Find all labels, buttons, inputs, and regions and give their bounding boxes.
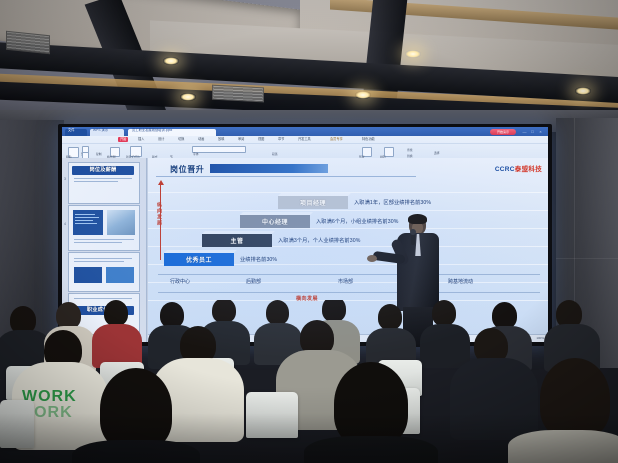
ladder-step-4-label: 项目经理 (300, 198, 326, 207)
ceiling-downlight (180, 93, 196, 101)
thumbnail-number: 3 (64, 177, 66, 181)
ladder-step-2-label: 主管 (230, 236, 243, 245)
ribbon-tab-9[interactable]: 开发工具 (298, 137, 311, 142)
ribbon-tab-row: 开始 插入 设计 切换 动画 放映 审阅 视图 章节 开发工具 会员专享 特色功… (62, 136, 548, 144)
thumb-blue-block (106, 267, 134, 283)
ribbon: 开始 插入 设计 切换 动画 放映 审阅 视图 章节 开发工具 会员专享 特色功… (62, 136, 548, 159)
department-divider (158, 292, 540, 293)
ribbon-tab-6[interactable]: 审阅 (238, 137, 244, 142)
maximize-button[interactable]: □ (530, 129, 535, 134)
close-button[interactable]: × (538, 129, 543, 134)
title-underline (156, 176, 416, 177)
ribbon-tab-10[interactable]: 会员专享 (330, 137, 343, 142)
thumb-line (74, 239, 134, 240)
title-accent-bar (210, 164, 328, 173)
presenter-hair (408, 214, 427, 224)
thumbnail-title: 岗位及薪酬 (72, 166, 134, 175)
ceiling (0, 0, 618, 132)
ladder-step-1-label: 优秀员工 (186, 255, 212, 264)
department-1: 后勤部 (246, 278, 261, 285)
select-label[interactable]: 选择 (434, 151, 440, 155)
ribbon-command-row: 粘贴 剪切 复制 格式刷 新建幻灯片 版式 节 字体 段落 形状 排列 查找 替… (62, 144, 548, 158)
font-label: 字体 (193, 152, 199, 156)
department-2: 市场部 (338, 278, 353, 285)
app-tab-label: WPS 演示 (93, 127, 108, 134)
thumb-line (74, 181, 118, 182)
wall-seam (556, 258, 618, 259)
logo-name: 泰盟科技 (515, 166, 542, 173)
app-titlebar: 文件 WPS 演示 员工职业发展规划培训.pptx 开始演示 — □ × (62, 127, 548, 136)
find-label[interactable]: 查找 (407, 148, 413, 152)
company-logo: CCRC泰盟科技 (495, 163, 542, 173)
thumb-line (74, 258, 132, 259)
thumb-line (75, 223, 97, 224)
ribbon-tab-5[interactable]: 放映 (218, 137, 224, 142)
thumb-line (74, 178, 132, 179)
start-presentation-button[interactable]: 开始演示 (490, 129, 516, 135)
conference-room-photo: 文件 WPS 演示 员工职业发展规划培训.pptx 开始演示 — □ × 开始 … (0, 0, 618, 463)
font-name-input[interactable] (192, 146, 246, 153)
ladder-step-3-label: 中心经理 (262, 217, 288, 226)
presenter-hand (367, 255, 377, 262)
ceiling-downlight (163, 57, 179, 65)
ladder-step-1: 优秀员工 (164, 253, 234, 266)
thumbnail-slide-3[interactable]: 3 岗位及薪酬 (68, 162, 140, 204)
ladder-step-4: 项目经理 (278, 196, 348, 209)
chair (246, 392, 298, 438)
microphone-icon (411, 232, 415, 245)
chair (0, 400, 34, 448)
thumb-blue-block (74, 267, 102, 283)
file-menu-label: 文件 (68, 127, 75, 134)
thumb-line (74, 298, 132, 299)
department-divider (158, 274, 540, 275)
thumb-line (74, 261, 124, 262)
ribbon-tab-4[interactable]: 动画 (198, 137, 204, 142)
copy-label: 复制 (96, 152, 102, 156)
ladder-step-4-criteria: 入职满1年，区部业绩排名前30% (354, 199, 431, 206)
ladder-step-3-criteria: 入职满6个月，小组业绩排名前30% (316, 218, 398, 225)
logo-mark: CCRC (495, 166, 515, 173)
department-3: 跨基地流动 (448, 278, 473, 285)
thumbnail-number: 4 (64, 222, 66, 226)
ribbon-tab-1[interactable]: 插入 (138, 137, 144, 142)
ceiling-downlight (575, 87, 591, 95)
ceiling-downlight (355, 91, 371, 99)
ribbon-tab-3[interactable]: 切换 (178, 137, 184, 142)
thumb-line (75, 214, 95, 215)
ribbon-tab-7[interactable]: 视图 (258, 137, 264, 142)
thumb-line (75, 220, 93, 221)
start-presentation-label: 开始演示 (490, 129, 516, 135)
minimize-button[interactable]: — (522, 129, 527, 134)
ribbon-tab-11[interactable]: 特色功能 (362, 137, 375, 142)
air-vent (212, 85, 264, 103)
ribbon-tab-0[interactable]: 开始 (118, 137, 128, 142)
thumbnail-slide-4b[interactable] (68, 252, 140, 292)
ladder-step-2: 主管 (202, 234, 272, 247)
department-0: 行政中心 (170, 278, 190, 285)
paragraph-label: 段落 (272, 152, 278, 156)
ceiling-downlight (405, 50, 421, 58)
ribbon-tab-8[interactable]: 章节 (278, 137, 284, 142)
ladder-step-3: 中心经理 (240, 215, 310, 228)
ladder-step-2-criteria: 入职满3个月，个人业绩排名前30% (278, 237, 360, 244)
document-tab-label: 员工职业发展规划培训.pptx (132, 127, 172, 134)
slide-title: 岗位晋升 (170, 164, 204, 175)
thumb-line (74, 242, 122, 243)
audience: WORK WORK (0, 300, 618, 463)
thumb-image (107, 210, 135, 235)
ladder-step-1-criteria: 业绩排名前30% (240, 256, 277, 263)
thumbnail-title-box: 岗位及薪酬 (72, 166, 134, 175)
thumb-line (75, 217, 99, 218)
vertical-axis-label: 纵向发展 (156, 202, 163, 226)
ribbon-tab-2[interactable]: 设计 (158, 137, 164, 142)
thumbnail-slide-4[interactable]: 4 (68, 205, 140, 251)
